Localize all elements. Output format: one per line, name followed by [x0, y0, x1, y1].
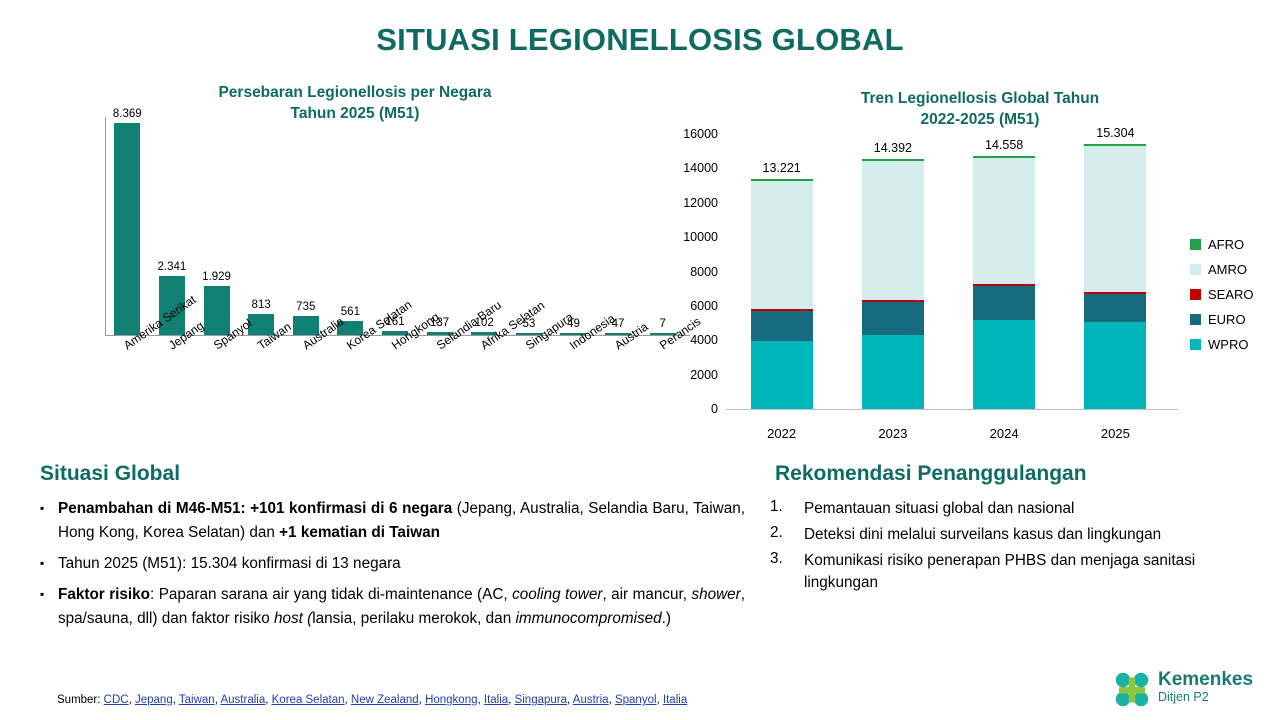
chart2-title: Tren Legionellosis Global Tahun 2022-202…	[790, 88, 1170, 130]
chart1-bar-value: 2.341	[158, 261, 187, 273]
source-link[interactable]: Italia	[484, 694, 508, 706]
chart2-title-line1: Tren Legionellosis Global Tahun	[790, 88, 1170, 109]
chart2-y-tick: 4000	[666, 333, 718, 347]
chart2-segment-euro	[973, 286, 1035, 321]
source-link[interactable]: Singapura	[515, 694, 567, 706]
situasi-global-list: ▪Penambahan di M46-M51: +101 konfirmasi …	[40, 497, 745, 638]
chart1-bar-value: 813	[252, 299, 271, 311]
source-link[interactable]: Australia	[220, 694, 265, 706]
chart2-bar-stack	[751, 179, 813, 409]
chart2-segment-euro	[751, 311, 813, 340]
source-link[interactable]: Jepang	[135, 694, 173, 706]
chart2-plot-area: 13.221202214.392202314.558202415.3042025	[726, 134, 1171, 409]
item-text: Deteksi dini melalui surveilans kasus da…	[804, 524, 1161, 546]
chart2-category-label: 2024	[955, 426, 1053, 441]
legend-label: WPRO	[1208, 337, 1248, 352]
chart2-y-tick: 8000	[666, 265, 718, 279]
stacked-bar-chart-trend: 1600014000120001000080006000400020000 13…	[660, 125, 1220, 445]
rekomendasi-list: 1.Pemantauan situasi global dan nasional…	[770, 498, 1230, 598]
chart1-bar: 1.929	[200, 100, 234, 335]
chart2-category-label: 2025	[1066, 426, 1164, 441]
chart2-x-axis	[726, 409, 1178, 410]
legend-swatch	[1190, 264, 1201, 275]
bullet-marker: ▪	[40, 552, 58, 576]
chart2-segment-amro	[973, 158, 1035, 283]
chart2-y-ticks: 1600014000120001000080006000400020000	[660, 125, 718, 410]
chart1-bar: 8.369	[110, 100, 144, 335]
bullet-marker: ▪	[40, 583, 58, 631]
chart2-y-tick: 12000	[666, 196, 718, 210]
chart2-y-tick: 16000	[666, 127, 718, 141]
legend-item-searo[interactable]: SEARO	[1190, 282, 1280, 307]
chart2-bar-total: 15.304	[1096, 126, 1134, 140]
numbered-item: 2.Deteksi dini melalui surveilans kasus …	[770, 524, 1230, 546]
chart1-bar-rect	[204, 286, 230, 335]
legend-swatch	[1190, 289, 1201, 300]
source-link[interactable]: Austria	[573, 694, 609, 706]
chart2-segment-wpro	[1084, 322, 1146, 409]
bar-chart-countries: 8.3692.3411.9298137355611611371025349477…	[60, 95, 700, 435]
chart2-bar-stack	[862, 159, 924, 409]
chart1-bar: 47	[601, 100, 635, 335]
bullet-text: Faktor risiko: Paparan sarana air yang t…	[58, 583, 745, 631]
bullet-item: ▪Penambahan di M46-M51: +101 konfirmasi …	[40, 497, 745, 545]
chart1-bar-value: 735	[296, 301, 315, 313]
chart2-category-label: 2022	[733, 426, 831, 441]
page-title: SITUASI LEGIONELLOSIS GLOBAL	[0, 22, 1280, 58]
situasi-global-heading: Situasi Global	[40, 462, 180, 486]
legend-item-euro[interactable]: EURO	[1190, 307, 1280, 332]
chart2-segment-wpro	[751, 341, 813, 409]
chart2-bar: 15.304	[1066, 134, 1164, 409]
bullet-item: ▪Tahun 2025 (M51): 15.304 konfirmasi di …	[40, 552, 745, 576]
legend-item-afro[interactable]: AFRO	[1190, 232, 1280, 257]
chart1-bar-value: 8.369	[113, 108, 142, 120]
legend-item-amro[interactable]: AMRO	[1190, 257, 1280, 282]
chart1-bar: 813	[244, 100, 278, 335]
chart1-bar: 735	[289, 100, 323, 335]
source-link[interactable]: CDC	[104, 694, 129, 706]
chart2-segment-amro	[1084, 146, 1146, 292]
source-link[interactable]: Spanyol	[615, 694, 657, 706]
logo-subtitle: Ditjen P2	[1158, 690, 1253, 704]
chart1-bar: 137	[423, 100, 457, 335]
chart2-y-tick: 6000	[666, 299, 718, 313]
legend-label: SEARO	[1208, 287, 1254, 302]
bullet-text: Tahun 2025 (M51): 15.304 konfirmasi di 1…	[58, 552, 401, 576]
source-link[interactable]: Italia	[663, 694, 687, 706]
legend-label: AFRO	[1208, 237, 1244, 252]
bullet-text: Penambahan di M46-M51: +101 konfirmasi d…	[58, 497, 745, 545]
chart2-bar: 14.392	[844, 134, 942, 409]
chart1-bar: 561	[333, 100, 367, 335]
bullet-item: ▪Faktor risiko: Paparan sarana air yang …	[40, 583, 745, 631]
item-text: Pemantauan situasi global dan nasional	[804, 498, 1074, 520]
chart2-segment-wpro	[862, 335, 924, 409]
numbered-item: 3.Komunikasi risiko penerapan PHBS dan m…	[770, 550, 1230, 594]
chart2-segment-amro	[862, 161, 924, 300]
chart2-y-tick: 14000	[666, 161, 718, 175]
kemenkes-logo: Kemenkes Ditjen P2	[1110, 668, 1270, 716]
chart2-bar: 14.558	[955, 134, 1053, 409]
chart2-segment-amro	[751, 181, 813, 309]
source-link[interactable]: Hongkong	[425, 694, 477, 706]
item-number: 3.	[770, 550, 804, 594]
chart1-bar-value: 1.929	[202, 271, 231, 283]
item-number: 2.	[770, 524, 804, 546]
item-number: 1.	[770, 498, 804, 520]
source-link[interactable]: Taiwan	[179, 694, 215, 706]
item-text: Komunikasi risiko penerapan PHBS dan men…	[804, 550, 1230, 594]
chart2-bar: 13.221	[733, 134, 831, 409]
logo-text: Kemenkes Ditjen P2	[1158, 670, 1253, 704]
chart2-y-tick: 10000	[666, 230, 718, 244]
chart2-bar-stack	[1084, 144, 1146, 409]
source-link[interactable]: Korea Selatan	[272, 694, 345, 706]
source-line: Sumber: CDC, Jepang, Taiwan, Australia, …	[57, 694, 687, 706]
chart2-y-tick: 2000	[666, 368, 718, 382]
legend-item-wpro[interactable]: WPRO	[1190, 332, 1280, 357]
numbered-item: 1.Pemantauan situasi global dan nasional	[770, 498, 1230, 520]
logo-name: Kemenkes	[1158, 670, 1253, 690]
chart2-segment-wpro	[973, 320, 1035, 409]
legend-label: AMRO	[1208, 262, 1247, 277]
source-label: Sumber:	[57, 694, 104, 706]
chart1-bar-rect	[114, 123, 140, 335]
source-link[interactable]: New Zealand	[351, 694, 419, 706]
chart1-bar: 49	[556, 100, 590, 335]
legend-swatch	[1190, 239, 1201, 250]
legend-label: EURO	[1208, 312, 1246, 327]
legend-swatch	[1190, 339, 1201, 350]
legend-swatch	[1190, 314, 1201, 325]
chart1-bar-value: 561	[341, 306, 360, 318]
chart2-y-tick: 0	[666, 402, 718, 416]
chart2-legend: AFROAMROSEAROEUROWPRO	[1190, 232, 1280, 357]
chart2-segment-euro	[1084, 294, 1146, 322]
kemenkes-logo-icon	[1110, 668, 1154, 712]
rekomendasi-heading: Rekomendasi Penanggulangan	[775, 462, 1087, 486]
chart2-bar-total: 14.558	[985, 138, 1023, 152]
chart2-category-label: 2023	[844, 426, 942, 441]
bullet-marker: ▪	[40, 497, 58, 545]
chart2-segment-euro	[862, 302, 924, 335]
chart2-bar-total: 13.221	[763, 161, 801, 175]
chart2-bar-stack	[973, 156, 1035, 409]
chart2-bar-total: 14.392	[874, 141, 912, 155]
